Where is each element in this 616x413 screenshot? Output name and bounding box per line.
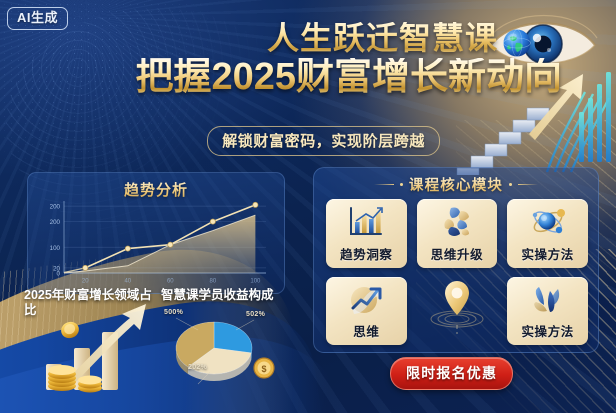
svg-text:100: 100 xyxy=(250,279,261,285)
core-modules-panel: 课程核心模块 xyxy=(313,167,599,353)
module-card-trend-insight[interactable]: 趋势洞察 xyxy=(326,199,407,268)
pie-label-left: 500% xyxy=(164,309,183,316)
module-label: 实操方法 xyxy=(521,244,573,263)
trend-line-chart: 20020010020020406080100 xyxy=(38,197,276,294)
heading-dot-left xyxy=(400,183,403,186)
heading-dash-left xyxy=(374,184,394,185)
module-label: 趋势洞察 xyxy=(340,244,392,263)
svg-text:80: 80 xyxy=(209,279,216,285)
bar-chart-icon xyxy=(346,205,386,244)
trend-arrow-icon xyxy=(346,283,386,322)
module-label: 思维 xyxy=(353,321,379,340)
location-pin-icon xyxy=(422,277,492,342)
module-label: 思维升级 xyxy=(431,244,483,263)
core-modules-heading: 课程核心模块 xyxy=(314,174,598,195)
pie-label-right: 502% xyxy=(246,311,265,318)
atom-icon xyxy=(528,205,568,244)
leaf-icon xyxy=(528,283,568,322)
svg-text:$: $ xyxy=(261,364,266,374)
heading-dot-right xyxy=(509,183,512,186)
core-modules-title: 课程核心模块 xyxy=(409,174,503,195)
limited-time-offer-badge[interactable]: 限时报名优惠 xyxy=(390,357,513,390)
module-cell-location-pin xyxy=(417,277,498,346)
module-card-mindset-upgrade[interactable]: 思维升级 xyxy=(417,199,498,268)
module-label: 实操方法 xyxy=(521,321,573,340)
growth-share-label: 2025年财富增长领域占比 xyxy=(24,288,154,318)
poster-root: AI生成 人生跃迁智慧课 xyxy=(0,0,616,413)
headline-block: 人生跃迁智慧课 xyxy=(135,22,498,98)
tagline-pill: 解锁财富密码，实现阶层跨越 xyxy=(207,126,440,156)
module-card-practice-method-1[interactable]: 实操方法 xyxy=(507,199,588,268)
module-card-mindset[interactable]: 思维 xyxy=(326,277,407,346)
module-grid: 趋势洞察 xyxy=(326,199,588,345)
pie-label-bottom: 202% xyxy=(188,364,207,371)
svg-text:20: 20 xyxy=(82,279,89,285)
svg-text:0: 0 xyxy=(57,271,61,278)
trend-analysis-card: 趋势分析 20020010020020406080100 xyxy=(27,172,285,294)
globe-icon xyxy=(502,28,532,58)
page-title: 人生跃迁智慧课 xyxy=(267,22,498,56)
module-card-practice-method-2[interactable]: 实操方法 xyxy=(507,277,588,346)
heading-dash-right xyxy=(518,184,538,185)
pie-title-label: 智慧课学员收益构成 xyxy=(161,288,291,303)
page-subtitle-main: 把握2025财富增长新动向 xyxy=(135,58,562,98)
svg-text:200: 200 xyxy=(50,204,61,211)
svg-text:100: 100 xyxy=(50,245,61,252)
svg-text:40: 40 xyxy=(124,279,131,285)
puzzle-icon xyxy=(437,205,477,244)
ai-generated-badge: AI生成 xyxy=(7,7,68,30)
svg-text:60: 60 xyxy=(167,279,174,285)
svg-text:200: 200 xyxy=(50,219,61,226)
